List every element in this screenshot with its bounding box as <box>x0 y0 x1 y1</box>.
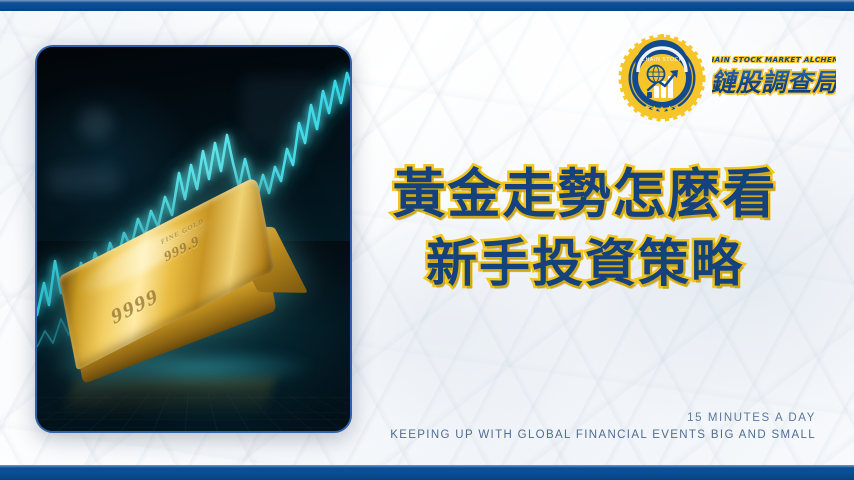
brand-wordmark-en: CHAIN STOCK MARKET ALCHEMY <box>712 55 836 64</box>
poster-title: 黃金走勢怎麼看 新手投資策略 <box>375 160 795 300</box>
brand-wordmark-svg: CHAIN STOCK MARKET ALCHEMY 鏈股調查局 <box>712 48 836 104</box>
bottom-accent-bar <box>0 465 854 480</box>
hero-image: FINE GOLD 999.9 9999 <box>37 47 350 431</box>
hero-image-card: FINE GOLD 999.9 9999 <box>35 45 352 433</box>
title-line-2: 新手投資策略 <box>375 230 795 300</box>
title-line-1: 黃金走勢怎麼看 <box>375 160 795 230</box>
tagline-line-1: 15 MINUTES A DAY <box>390 410 816 427</box>
poster-canvas: FINE GOLD 999.9 9999 <box>0 0 854 480</box>
tagline-line-2: KEEPING UP WITH GLOBAL FINANCIAL EVENTS … <box>390 427 816 444</box>
top-bar-sheen <box>0 0 854 3</box>
brand-logo[interactable]: CHAIN STOCK <box>618 32 833 124</box>
svg-text:CHAIN STOCK: CHAIN STOCK <box>641 57 682 63</box>
brand-wordmark: CHAIN STOCK MARKET ALCHEMY 鏈股調查局 <box>712 48 836 109</box>
brand-seal-icon: CHAIN STOCK <box>618 34 706 122</box>
poster-tagline: 15 MINUTES A DAY KEEPING UP WITH GLOBAL … <box>390 410 816 444</box>
bottom-bar-sheen <box>0 465 854 468</box>
brand-wordmark-zh: 鏈股調查局 <box>712 68 836 97</box>
top-accent-bar <box>0 0 854 11</box>
